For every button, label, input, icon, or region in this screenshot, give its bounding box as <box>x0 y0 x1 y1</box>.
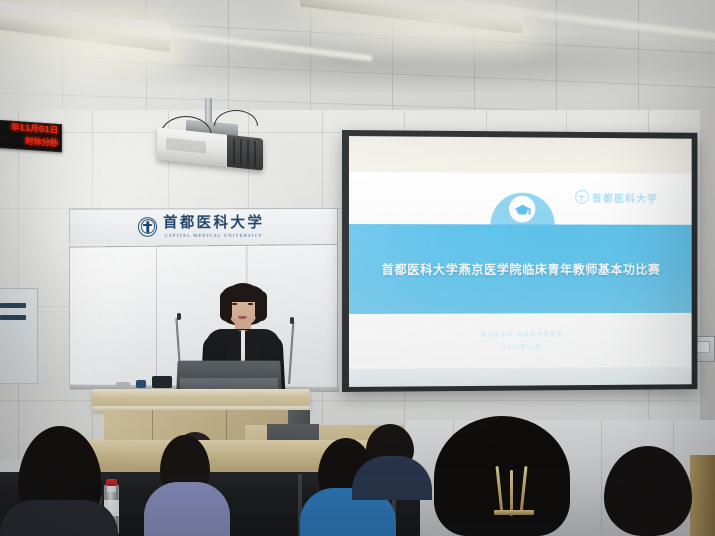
microphone-head-left <box>177 313 181 320</box>
banner-title-en: CAPITAL MEDICAL UNIVERSITY <box>165 232 263 237</box>
slide-logo-text: 首都医科大学 <box>592 190 658 205</box>
medical-cross-crest-icon <box>138 217 157 237</box>
slide-title: 首都医科大学燕京医学院临床青年教师基本功比赛 <box>375 260 666 278</box>
university-banner: 首都医科大学 CAPITAL MEDICAL UNIVERSITY <box>69 208 338 244</box>
slide-crest-icon <box>575 190 589 204</box>
foreground-right-column <box>690 455 715 536</box>
slide-title-band: 首都医科大学燕京医学院临床青年教师基本功比赛 <box>349 224 692 314</box>
desk-object-2 <box>136 380 146 388</box>
bottle-cap <box>106 479 117 486</box>
hair-clip-accessory <box>494 466 534 520</box>
projection-screen: 首都医科大学 首都医科大学燕京医学院临床青年教师基本功比赛 <box>342 130 697 392</box>
slide-header-area: 首都医科大学 <box>349 172 692 224</box>
graduation-cap-icon <box>513 203 531 215</box>
wall-panel-left <box>0 288 38 384</box>
right-wall-strip <box>700 110 715 460</box>
slide-university-logo: 首都医科大学 <box>575 190 658 205</box>
presentation-slide: 首都医科大学 首都医科大学燕京医学院临床青年教师基本功比赛 <box>349 136 692 387</box>
slide-top-band <box>349 136 692 174</box>
slide-date: 2025年11月 <box>503 343 541 351</box>
microphone-head-right <box>290 317 294 324</box>
led-display: 年11月01日 时休分秒 <box>0 120 62 153</box>
slide-footer-band <box>349 367 692 387</box>
slide-subtitle-area: 燕京医学院 临床医学教研室 2025年11月 <box>349 313 692 369</box>
graduation-badge <box>490 192 554 225</box>
audience-body-1 <box>0 500 118 536</box>
banner-title-cn: 首都医科大学 <box>163 215 264 231</box>
desk-object-1 <box>116 382 130 388</box>
audience-body-2 <box>144 482 230 536</box>
lecture-hall-photo: 年11月01日 时休分秒 首都医科大学 CAPITAL MEDICAL UNIV… <box>0 0 715 536</box>
slide-subtitle: 燕京医学院 临床医学教研室 <box>481 330 564 338</box>
desk-object-3 <box>152 376 172 388</box>
